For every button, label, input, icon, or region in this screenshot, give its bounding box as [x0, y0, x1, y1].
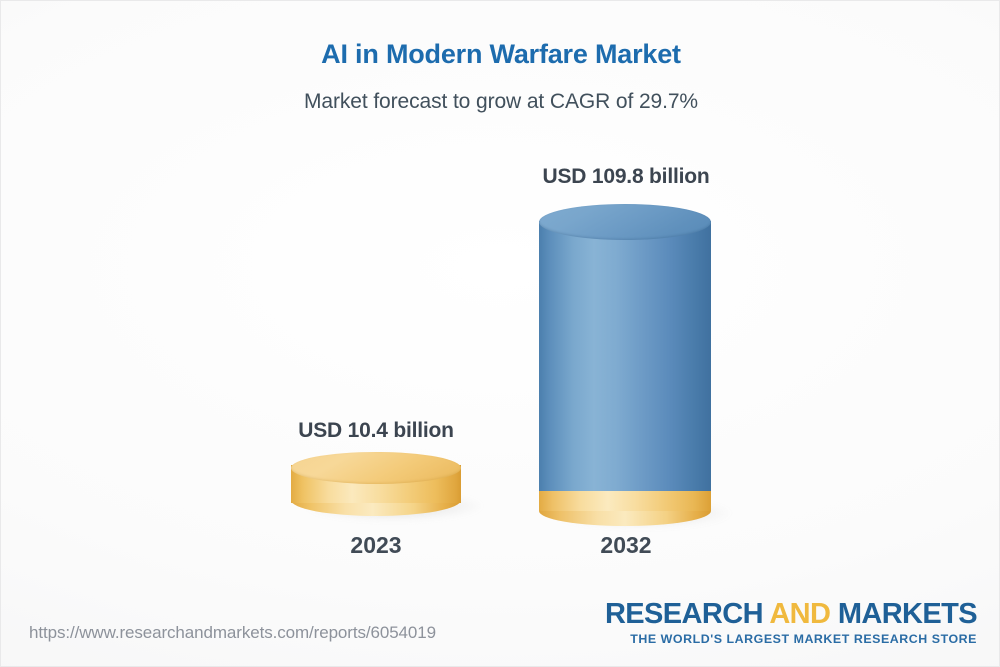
bar-cylinder-2023	[291, 453, 461, 515]
logo-word-research: RESEARCH	[605, 598, 763, 630]
logo-word-and: AND	[769, 598, 830, 630]
chart-title: AI in Modern Warfare Market	[1, 39, 1000, 70]
logo-tagline: THE WORLD'S LARGEST MARKET RESEARCH STOR…	[605, 632, 977, 646]
chart-subtitle: Market forecast to grow at CAGR of 29.7%	[1, 90, 1000, 114]
logo-word-markets: MARKETS	[838, 598, 977, 630]
bar-base-segment-2032	[539, 489, 711, 511]
logo-wordmark: RESEARCH AND MARKETS	[605, 599, 977, 629]
value-label-2023: USD 10.4 billion	[241, 419, 511, 443]
value-label-2032: USD 109.8 billion	[491, 165, 761, 189]
bar-top-ellipse-2023	[291, 452, 461, 484]
research-and-markets-logo[interactable]: RESEARCH AND MARKETS THE WORLD'S LARGEST…	[605, 599, 977, 646]
bar-body-2032	[539, 221, 711, 491]
category-label-2032: 2032	[491, 532, 761, 559]
category-label-2023: 2023	[241, 532, 511, 559]
source-url[interactable]: https://www.researchandmarkets.com/repor…	[29, 623, 436, 643]
chart-canvas: AI in Modern Warfare Market Market forec…	[0, 0, 1000, 667]
bar-top-ellipse-2032	[539, 204, 711, 240]
bar-cylinder-2032	[539, 203, 711, 523]
